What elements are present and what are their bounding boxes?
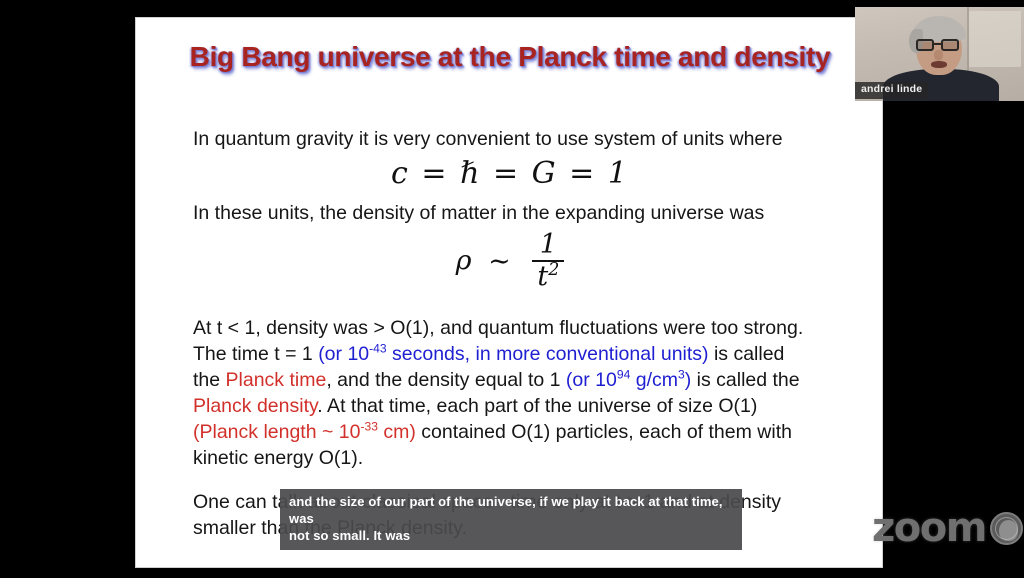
zoom-wordmark: zoom bbox=[872, 508, 986, 548]
p1l2-blue-post: seconds, in more conventional units) bbox=[387, 343, 709, 365]
eq1-hbar: ℏ bbox=[460, 156, 481, 191]
participant-nose bbox=[934, 50, 943, 61]
zoom-screen-share-stage: Big Bang universe at the Planck time and… bbox=[0, 0, 1024, 578]
eq1-G: G bbox=[532, 156, 558, 191]
body-paragraph-1-line-5: (Planck length ~ 10-33 cm) contained O(1… bbox=[193, 419, 792, 445]
participant-video-tile[interactable]: andrei linde bbox=[855, 7, 1024, 101]
eq1-equals-3: = bbox=[569, 156, 596, 191]
slide-title: Big Bang universe at the Planck time and… bbox=[136, 41, 883, 73]
body-paragraph-1-line-2: The time t = 1 (or 10-43 seconds, in mor… bbox=[193, 341, 784, 367]
wall-panel-decor bbox=[969, 11, 1021, 67]
equation-density-scaling: ρ ∼ 1 t2 bbox=[136, 232, 883, 292]
eq2-denominator-wrap: t2 bbox=[532, 263, 564, 291]
p1l3-text-c: is called the bbox=[691, 369, 799, 391]
participant-name-badge: andrei linde bbox=[855, 82, 928, 99]
p1l3-text-b: , and the density equal to 1 bbox=[326, 369, 566, 391]
p1l3-blue-exponent: 94 bbox=[617, 368, 630, 382]
glasses-lens-left bbox=[916, 39, 934, 51]
p1l5-red-pre: (Planck length ~ 10 bbox=[193, 421, 360, 443]
body-paragraph-1-line-6: kinetic energy O(1). bbox=[193, 445, 363, 471]
p1l2-text-b: is called bbox=[709, 343, 785, 365]
eq1-one: 1 bbox=[608, 156, 629, 191]
eq2-denominator-exponent: 2 bbox=[548, 260, 559, 280]
body-paragraph-1-line-3: the Planck time, and the density equal t… bbox=[193, 367, 800, 393]
p1l4-planck-density: Planck density bbox=[193, 395, 317, 417]
p1l3-blue-pre: (or 10 bbox=[566, 369, 617, 391]
intro-line-2: In these units, the density of matter in… bbox=[193, 200, 764, 226]
eq2-sim: ∼ bbox=[488, 246, 511, 277]
p1l2-text-a: The time t = 1 bbox=[193, 343, 318, 365]
presentation-slide: Big Bang universe at the Planck time and… bbox=[135, 17, 883, 568]
p1l3-blue-exponent-2: 3 bbox=[678, 368, 685, 382]
participant-mouth bbox=[931, 61, 947, 68]
live-caption-overlay: and the size of our part of the universe… bbox=[280, 489, 742, 550]
p1l5-red-exponent: -33 bbox=[360, 420, 377, 434]
glasses-icon bbox=[915, 39, 963, 51]
p1l2-blue-pre: (or 10 bbox=[318, 343, 369, 365]
eq1-c: c bbox=[391, 156, 410, 191]
p1l3-blue-mid: g/cm bbox=[630, 369, 678, 391]
p1l5-red-post: cm) bbox=[378, 421, 416, 443]
intro-line-1: In quantum gravity it is very convenient… bbox=[193, 126, 783, 152]
glasses-lens-right bbox=[941, 39, 959, 51]
p1l4-text-a: . At that time, each part of the univers… bbox=[317, 395, 757, 417]
eq1-equals-1: = bbox=[421, 156, 448, 191]
caption-line-2: not so small. It was bbox=[289, 527, 734, 544]
eq2-denominator: t bbox=[537, 261, 548, 292]
eq2-numerator: 1 bbox=[532, 231, 564, 259]
equation-natural-units: c = ℏ = G = 1 bbox=[136, 156, 883, 191]
body-paragraph-1-line-4: Planck density. At that time, each part … bbox=[193, 393, 757, 419]
eq1-equals-2: = bbox=[493, 156, 520, 191]
body-paragraph-1-line-1: At t < 1, density was > O(1), and quantu… bbox=[193, 315, 803, 341]
p1l2-blue-exponent: -43 bbox=[369, 342, 386, 356]
seal-ring-decor bbox=[995, 517, 1018, 540]
eq2-rho: ρ bbox=[456, 246, 472, 277]
p1l3-text-a: the bbox=[193, 369, 226, 391]
caption-line-1: and the size of our part of the universe… bbox=[289, 493, 734, 527]
p1l5-text-a: contained O(1) particles, each of them w… bbox=[416, 421, 792, 443]
eq2-fraction: 1 t2 bbox=[532, 231, 564, 291]
institution-seal-icon bbox=[990, 512, 1023, 545]
p1l3-planck-time: Planck time bbox=[226, 369, 327, 391]
zoom-watermark: zoom bbox=[872, 508, 1023, 548]
